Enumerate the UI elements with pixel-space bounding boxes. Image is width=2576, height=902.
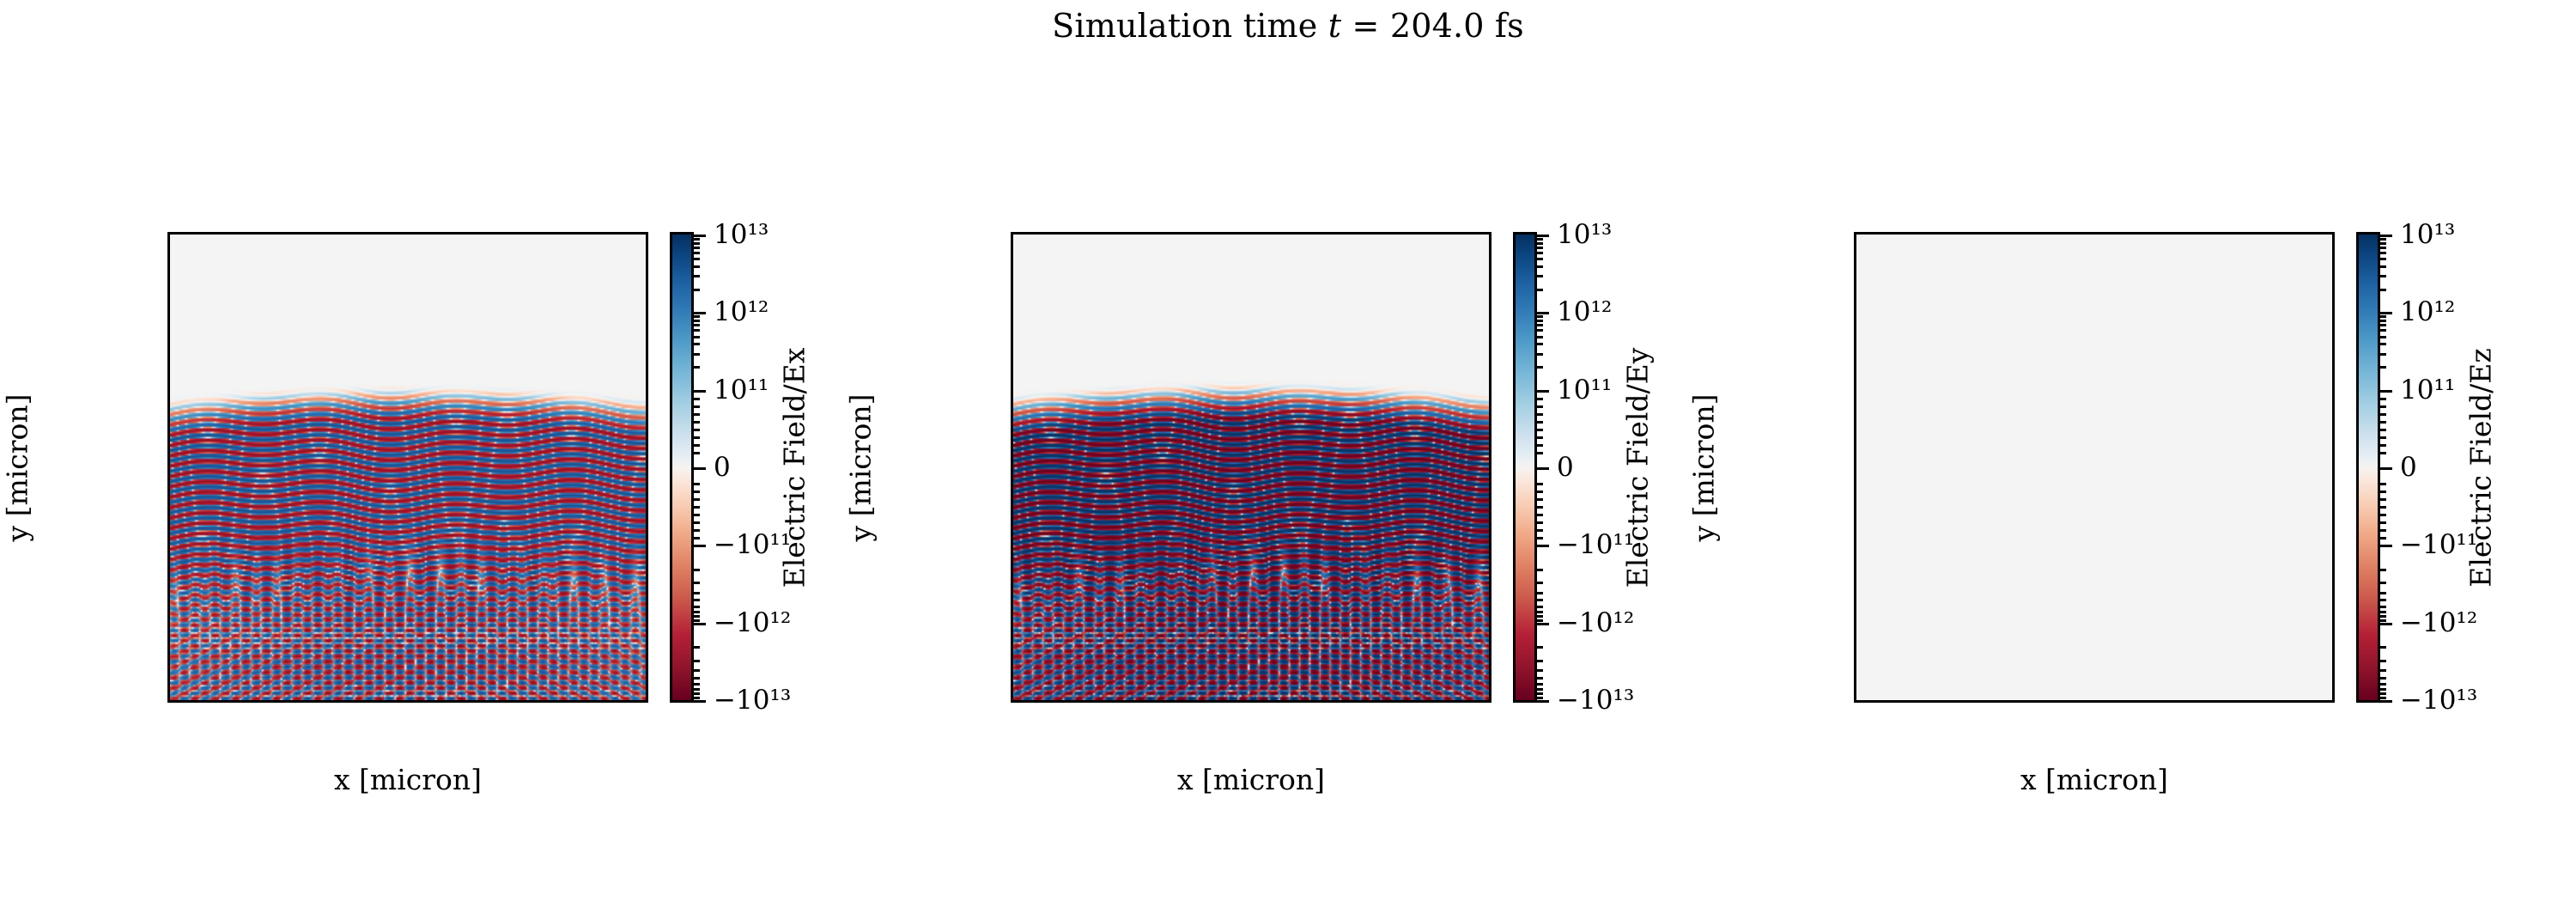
colorbar-tick-minor: [1534, 683, 1543, 686]
colorbar-tick-minor: [1534, 258, 1543, 260]
colorbar-tick-minor: [691, 353, 700, 356]
colorbar-tick-minor: [691, 677, 700, 680]
colorbar-tick-minor: [2378, 669, 2386, 672]
colorbar-tick-label: 0: [2400, 452, 2417, 483]
colorbar-tick-major: [1534, 312, 1549, 314]
x-tick-major: [2094, 700, 2097, 703]
colorbar-tick-minor: [2378, 514, 2386, 516]
colorbar-tick-major: [2378, 390, 2392, 393]
y-tick-minor: [167, 395, 170, 398]
colorbar-tick-minor: [2378, 521, 2386, 524]
colorbar-tick-minor: [2378, 677, 2386, 680]
x-tick-major: [507, 700, 509, 703]
y-tick-minor: [167, 602, 170, 605]
colorbar-tick-minor: [691, 265, 700, 268]
y-tick-major: [1854, 369, 1856, 372]
y-tick-major: [1011, 421, 1013, 424]
colorbar-tick-minor: [691, 615, 700, 618]
colorbar-tick-minor: [1534, 569, 1543, 571]
colorbar-tick-minor: [2378, 242, 2386, 245]
colorbar-tick-minor: [1534, 315, 1543, 318]
colorbar-tick-minor: [1534, 452, 1543, 454]
x-tick-minor: [1921, 700, 1923, 703]
colorbar-tick-minor: [1534, 413, 1543, 416]
y-tick-major: [1011, 576, 1013, 578]
colorbar-tick-major: [691, 623, 706, 625]
colorbar-tick-minor: [1534, 688, 1543, 691]
colorbar-tick-minor: [691, 514, 700, 516]
x-tick-minor: [383, 700, 386, 703]
x-tick-major: [2044, 700, 2047, 703]
x-tick-minor: [581, 700, 584, 703]
colorbar-tick-minor: [691, 599, 700, 601]
colorbar-ey[interactable]: 10¹³10¹²10¹¹0−10¹¹−10¹²−10¹³: [1513, 232, 1537, 703]
colorbar-tick-minor: [691, 669, 700, 672]
x-tick-minor: [1078, 700, 1080, 703]
y-axis-title-text: y [micron]: [1, 393, 34, 541]
colorbar-tick-minor: [691, 429, 700, 431]
y-axis-title: y [micron]: [1686, 232, 1721, 703]
colorbar-tick-minor: [2378, 537, 2386, 539]
y-tick-major: [1854, 421, 1856, 424]
y-tick-major: [1854, 524, 1856, 527]
colorbar-tick-minor: [691, 366, 700, 369]
colorbar-tick-minor: [691, 569, 700, 571]
x-axis-title: x [micron]: [1011, 763, 1492, 796]
colorbar-tick-minor: [691, 444, 700, 447]
x-tick-major: [606, 700, 609, 703]
colorbar-tick-minor: [691, 238, 700, 241]
y-tick-major: [167, 369, 170, 372]
y-tick-minor: [167, 291, 170, 294]
colorbar-tick-minor: [1534, 398, 1543, 400]
colorbar-tick-minor: [2378, 452, 2386, 454]
colorbar-tick-minor: [2378, 569, 2386, 571]
colorbar-tick-minor: [2378, 444, 2386, 447]
x-tick-major: [458, 700, 460, 703]
colorbar-tick-minor: [691, 436, 700, 439]
x-tick-major: [1201, 700, 1204, 703]
panel-ez: y [micron] 605856545250484644−8−6−4−2024…: [1686, 0, 2545, 902]
colorbar-tick-minor: [1534, 606, 1543, 608]
colorbar-tick-minor: [2378, 615, 2386, 618]
colorbar-tick-minor: [691, 289, 700, 291]
colorbar-tick-minor: [1534, 336, 1543, 338]
y-tick-major: [167, 421, 170, 424]
x-tick-minor: [333, 700, 336, 703]
colorbar-tick-major: [2378, 623, 2392, 625]
colorbar-tick-minor: [691, 498, 700, 501]
colorbar-tick-minor: [1534, 483, 1543, 485]
y-tick-minor: [1011, 602, 1013, 605]
colorbar-tick-minor: [1534, 444, 1543, 447]
x-tick-minor: [631, 700, 634, 703]
colorbar-title-ez: Electric Field/Ez: [2464, 232, 2498, 703]
y-tick-minor: [1854, 654, 1856, 656]
y-tick-major: [1854, 628, 1856, 631]
colorbar-tick-minor: [2378, 429, 2386, 431]
colorbar-tick-minor: [1534, 429, 1543, 431]
x-tick-major: [1449, 700, 1452, 703]
colorbar-tick-minor: [2378, 688, 2386, 691]
colorbar-tick-label: 10¹³: [2400, 219, 2455, 250]
colorbar-tick-minor: [2378, 692, 2386, 695]
y-tick-minor: [1854, 602, 1856, 605]
colorbar-tick-minor: [1534, 514, 1543, 516]
colorbar-tick-minor: [691, 247, 700, 249]
x-tick-minor: [1028, 700, 1030, 703]
x-tick-major: [210, 700, 212, 703]
colorbar-tick-minor: [2378, 289, 2386, 291]
x-tick-major: [1152, 700, 1155, 703]
y-tick-minor: [1854, 447, 1856, 449]
colorbar-tick-minor: [1534, 242, 1543, 245]
y-tick-minor: [167, 343, 170, 345]
y-axis-title-text: y [micron]: [844, 393, 878, 541]
y-tick-major: [1011, 265, 1013, 268]
colorbar-tick-minor: [2378, 336, 2386, 338]
colorbar-tick-minor: [2378, 265, 2386, 268]
colorbar-tick-minor: [1534, 421, 1543, 424]
colorbar-tick-minor: [691, 611, 700, 613]
colorbar-tick-minor: [691, 336, 700, 338]
colorbar-tick-minor: [1534, 436, 1543, 439]
y-tick-major: [167, 317, 170, 320]
colorbar-tick-minor: [691, 413, 700, 416]
colorbar-tick-minor: [691, 506, 700, 509]
y-tick-major: [1854, 680, 1856, 682]
colorbar-tick-minor: [691, 688, 700, 691]
x-tick-major: [358, 700, 361, 703]
x-tick-minor: [2318, 700, 2320, 703]
colorbar-tick-minor: [1534, 697, 1543, 699]
x-tick-major: [408, 700, 410, 703]
x-tick-minor: [284, 700, 287, 703]
y-tick-major: [167, 680, 170, 682]
y-tick-minor: [167, 498, 170, 501]
x-tick-minor: [1474, 700, 1477, 703]
y-tick-major: [1011, 524, 1013, 527]
colorbar-tick-minor: [691, 343, 700, 345]
colorbar-tick-minor: [691, 683, 700, 686]
colorbar-tick-label: 10¹³: [1557, 219, 1612, 250]
colorbar-tick-label: 0: [1557, 452, 1574, 483]
colorbar-tick-minor: [691, 258, 700, 260]
colorbar-tick-minor: [2378, 315, 2386, 318]
y-tick-major: [167, 472, 170, 475]
x-tick-minor: [234, 700, 237, 703]
colorbar-tick-minor: [2378, 599, 2386, 601]
colorbar-tick-minor: [2378, 405, 2386, 408]
colorbar-tick-minor: [2378, 529, 2386, 532]
colorbar-tick-minor: [2378, 252, 2386, 254]
colorbar-tick-minor: [691, 606, 700, 608]
colorbar-tick-major: [2378, 312, 2392, 314]
y-axis-title: y [micron]: [0, 232, 34, 703]
colorbar-tick-minor: [1534, 646, 1543, 649]
x-tick-major: [1946, 700, 1948, 703]
x-tick-minor: [1871, 700, 1874, 703]
x-tick-major: [259, 700, 262, 703]
colorbar-tick-minor: [1534, 238, 1543, 241]
colorbar-title-text: Electric Field/Ex: [778, 347, 811, 588]
x-tick-major: [1350, 700, 1352, 703]
y-tick-minor: [1011, 550, 1013, 552]
colorbar-tick-minor: [2378, 329, 2386, 332]
colorbar-tick-minor: [691, 324, 700, 326]
colorbar-tick-minor: [1534, 491, 1543, 493]
colorbar-tick-minor: [2378, 398, 2386, 400]
colorbar-tick-minor: [691, 483, 700, 485]
x-tick-minor: [2169, 700, 2172, 703]
colorbar-tick-minor: [2378, 343, 2386, 345]
colorbar-tick-minor: [1534, 324, 1543, 326]
colorbar-tick-minor: [1534, 343, 1543, 345]
y-tick-minor: [1854, 343, 1856, 345]
colorbar-tick-major: [1534, 235, 1549, 237]
colorbar-tick-minor: [2378, 366, 2386, 369]
colorbar-tick-major: [691, 235, 706, 237]
y-tick-major: [1011, 369, 1013, 372]
y-axis-title-text: y [micron]: [1687, 393, 1721, 541]
x-tick-minor: [2069, 700, 2072, 703]
colorbar-tick-minor: [691, 646, 700, 649]
y-tick-minor: [1854, 291, 1856, 294]
colorbar-tick-minor: [1534, 265, 1543, 268]
plot-area-ez[interactable]: 605856545250484644−8−6−4−202468: [1854, 232, 2335, 703]
y-tick-major: [1011, 680, 1013, 682]
y-tick-minor: [1011, 291, 1013, 294]
x-tick-major: [2193, 700, 2196, 703]
x-tick-major: [1251, 700, 1254, 703]
colorbar-tick-minor: [691, 619, 700, 622]
colorbar-ex[interactable]: 10¹³10¹²10¹¹0−10¹¹−10¹²−10¹³: [670, 232, 694, 703]
x-tick-major: [309, 700, 312, 703]
colorbar-tick-minor: [2378, 247, 2386, 249]
x-tick-major: [2243, 700, 2245, 703]
colorbar-tick-minor: [1534, 521, 1543, 524]
x-tick-minor: [1375, 700, 1377, 703]
x-tick-minor: [1176, 700, 1179, 703]
colorbar-tick-minor: [2378, 258, 2386, 260]
colorbar-tick-minor: [691, 529, 700, 532]
x-tick-minor: [532, 700, 534, 703]
y-tick-major: [167, 576, 170, 578]
figure-canvas: Simulation time t = 204.0 fs y [micron] …: [0, 0, 2576, 902]
colorbar-tick-major: [691, 467, 706, 470]
colorbar-tick-minor: [2378, 592, 2386, 594]
y-tick-minor: [1011, 447, 1013, 449]
x-tick-minor: [2268, 700, 2270, 703]
y-tick-minor: [1854, 240, 1856, 242]
colorbar-tick-label: 10¹¹: [714, 375, 769, 405]
colorbar-tick-minor: [691, 405, 700, 408]
colorbar-title-text: Electric Field/Ey: [1621, 347, 1655, 588]
colorbar-title-ex: Electric Field/Ex: [777, 232, 811, 703]
colorbar-tick-minor: [691, 521, 700, 524]
colorbar-tick-major: [2378, 700, 2392, 703]
colorbar-tick-minor: [1534, 498, 1543, 501]
colorbar-tick-minor: [2378, 491, 2386, 493]
colorbar-tick-minor: [691, 252, 700, 254]
y-tick-major: [1854, 472, 1856, 475]
colorbar-tick-minor: [1534, 320, 1543, 322]
colorbar-tick-minor: [1534, 289, 1543, 291]
y-tick-major: [167, 628, 170, 631]
colorbar-tick-minor: [1534, 619, 1543, 622]
colorbar-tick-minor: [1534, 692, 1543, 695]
panel-ey: y [micron] 605856545250484644−8−6−4−2024…: [843, 0, 1702, 902]
x-tick-minor: [1971, 700, 1973, 703]
colorbar-tick-major: [1534, 545, 1549, 547]
colorbar-tick-label: 10¹²: [714, 296, 769, 327]
x-tick-major: [2293, 700, 2295, 703]
colorbar-tick-major: [1534, 390, 1549, 393]
x-tick-major: [1301, 700, 1303, 703]
panel-ex: y [micron] 605856545250484644−8−6−4−2024…: [0, 0, 859, 902]
colorbar-tick-minor: [2378, 606, 2386, 608]
colorbar-tick-minor: [2378, 582, 2386, 584]
colorbar-tick-major: [1534, 467, 1549, 470]
colorbar-tick-minor: [1534, 275, 1543, 277]
x-tick-minor: [483, 700, 485, 703]
colorbar-tick-label: 10¹²: [2400, 296, 2455, 327]
colorbar-tick-minor: [691, 592, 700, 594]
colorbar-tick-major: [691, 700, 706, 703]
colorbar-tick-minor: [1534, 599, 1543, 601]
x-tick-major: [1400, 700, 1402, 703]
y-tick-major: [1011, 628, 1013, 631]
y-tick-minor: [167, 550, 170, 552]
x-tick-minor: [1276, 700, 1279, 703]
colorbar-tick-minor: [691, 452, 700, 454]
y-tick-minor: [167, 240, 170, 242]
colorbar-title-ey: Electric Field/Ey: [1620, 232, 1655, 703]
colorbar-tick-minor: [691, 491, 700, 493]
colorbar-tick-minor: [691, 329, 700, 332]
y-tick-minor: [1854, 498, 1856, 501]
colorbar-tick-minor: [1534, 582, 1543, 584]
colorbar-tick-major: [2378, 467, 2392, 470]
colorbar-tick-minor: [2378, 611, 2386, 613]
y-tick-minor: [1854, 395, 1856, 398]
colorbar-tick-minor: [2378, 506, 2386, 509]
colorbar-tick-major: [691, 545, 706, 547]
y-tick-minor: [167, 447, 170, 449]
x-tick-minor: [1326, 700, 1328, 703]
plot-area-ey[interactable]: 605856545250484644−8−6−4−202468: [1011, 232, 1492, 703]
colorbar-tick-minor: [691, 582, 700, 584]
colorbar-tick-minor: [691, 537, 700, 539]
colorbar-tick-minor: [1534, 366, 1543, 369]
colorbar-tick-minor: [691, 421, 700, 424]
colorbar-tick-minor: [1534, 660, 1543, 662]
colorbar-tick-minor: [1534, 615, 1543, 618]
colorbar-tick-minor: [691, 320, 700, 322]
y-tick-major: [1854, 576, 1856, 578]
colorbar-tick-minor: [691, 398, 700, 400]
colorbar-tick-minor: [1534, 592, 1543, 594]
y-axis-title: y [micron]: [843, 232, 878, 703]
x-tick-minor: [2020, 700, 2022, 703]
colorbar-tick-label: 10¹¹: [1557, 375, 1612, 405]
colorbar-tick-minor: [2378, 421, 2386, 424]
colorbar-tick-minor: [691, 692, 700, 695]
x-tick-minor: [433, 700, 435, 703]
colorbar-tick-minor: [1534, 669, 1543, 672]
colorbar-tick-minor: [1534, 329, 1543, 332]
colorbar-tick-label: 10¹³: [714, 219, 769, 250]
colorbar-tick-minor: [2378, 498, 2386, 501]
colorbar-tick-major: [691, 390, 706, 393]
colorbar-tick-minor: [2378, 683, 2386, 686]
colorbar-tick-minor: [1534, 247, 1543, 249]
colorbar-tick-label: 10¹¹: [2400, 375, 2455, 405]
y-tick-minor: [1011, 240, 1013, 242]
colorbar-tick-minor: [1534, 405, 1543, 408]
colorbar-tick-minor: [2378, 413, 2386, 416]
x-tick-major: [1896, 700, 1899, 703]
y-tick-minor: [1011, 654, 1013, 656]
y-tick-major: [1011, 317, 1013, 320]
x-tick-minor: [185, 700, 187, 703]
x-tick-major: [2144, 700, 2147, 703]
y-tick-minor: [1011, 395, 1013, 398]
colorbar-tick-minor: [691, 697, 700, 699]
x-tick-major: [1103, 700, 1105, 703]
colorbar-tick-major: [1534, 623, 1549, 625]
colorbar-tick-minor: [2378, 646, 2386, 649]
colorbar-tick-minor: [1534, 611, 1543, 613]
colorbar-tick-major: [2378, 545, 2392, 547]
colorbar-tick-minor: [2378, 483, 2386, 485]
colorbar-tick-label: 0: [714, 452, 731, 483]
colorbar-tick-minor: [1534, 537, 1543, 539]
x-axis-title: x [micron]: [167, 763, 648, 796]
colorbar-tick-minor: [2378, 238, 2386, 241]
colorbar-tick-minor: [2378, 436, 2386, 439]
colorbar-tick-label: 10¹²: [1557, 296, 1612, 327]
colorbar-tick-major: [1534, 700, 1549, 703]
colorbar-tick-minor: [2378, 660, 2386, 662]
colorbar-tick-minor: [691, 315, 700, 318]
colorbar-tick-minor: [1534, 506, 1543, 509]
colorbar-tick-minor: [1534, 252, 1543, 254]
x-tick-minor: [1425, 700, 1427, 703]
y-tick-major: [1011, 472, 1013, 475]
colorbar-tick-minor: [691, 275, 700, 277]
colorbar-ez[interactable]: 10¹³10¹²10¹¹0−10¹¹−10¹²−10¹³: [2356, 232, 2380, 703]
colorbar-tick-minor: [2378, 275, 2386, 277]
x-tick-minor: [2119, 700, 2122, 703]
colorbar-tick-minor: [2378, 324, 2386, 326]
y-tick-minor: [1011, 343, 1013, 345]
y-tick-minor: [167, 654, 170, 656]
x-tick-minor: [1127, 700, 1130, 703]
x-tick-major: [1996, 700, 1998, 703]
y-tick-major: [167, 265, 170, 268]
plot-area-ex[interactable]: 605856545250484644−8−6−4−202468: [167, 232, 648, 703]
colorbar-tick-minor: [2378, 697, 2386, 699]
colorbar-title-text: Electric Field/Ez: [2464, 348, 2498, 587]
colorbar-tick-minor: [2378, 320, 2386, 322]
x-tick-minor: [1226, 700, 1229, 703]
colorbar-tick-minor: [691, 242, 700, 245]
y-tick-major: [1854, 317, 1856, 320]
colorbar-tick-minor: [1534, 677, 1543, 680]
y-tick-major: [167, 524, 170, 527]
y-tick-major: [1854, 265, 1856, 268]
